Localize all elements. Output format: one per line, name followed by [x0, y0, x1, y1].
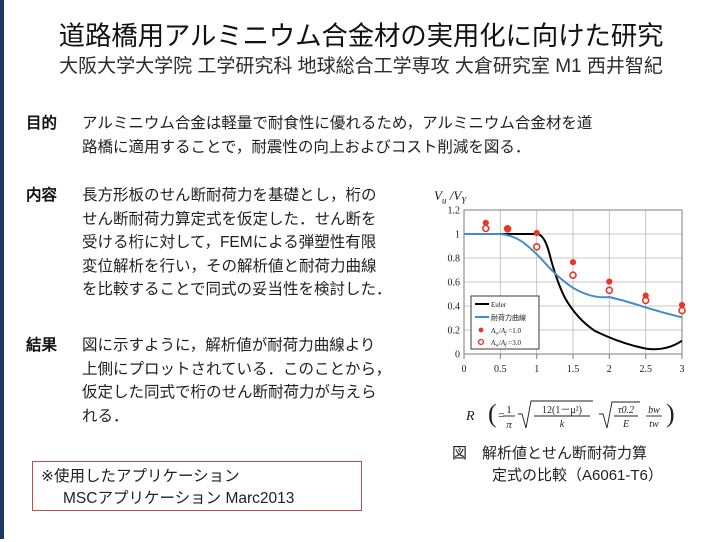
chart-legend-label-aw-af-1: Aw/Af =1.0: [490, 327, 521, 336]
formula-paren-open: (: [488, 399, 497, 428]
section-purpose-text: アルミニウム合金は軽量で耐食性に優れるため，アルミニウム合金材を道 路橋に適用す…: [82, 112, 692, 159]
svg-text:1.5: 1.5: [567, 364, 580, 375]
svg-text:1.2: 1.2: [448, 206, 461, 217]
section-content-text: 長方形板のせん断耐荷力を基礎とし，桁の せん断耐荷力算定式を仮定した．せん断を …: [82, 184, 434, 302]
figure-chart: Vu /VY: [432, 188, 714, 393]
formula-radical1-denominator: k: [560, 419, 565, 430]
formula-coeff-denominator: π: [506, 419, 512, 431]
chart-legend-label-euler: Euler: [491, 301, 507, 309]
svg-text:0.4: 0.4: [448, 302, 461, 313]
application-note-line1: ※使用したアプリケーション: [41, 466, 361, 488]
section-purpose: 目的 アルミニウム合金は軽量で耐食性に優れるため，アルミニウム合金材を道 路橋に…: [26, 112, 706, 159]
figure-caption-line1: 解析値とせん断耐荷力算: [482, 445, 647, 462]
svg-text:0.6: 0.6: [448, 278, 461, 289]
chart-legend-swatch-aw-af-3: [479, 340, 484, 345]
svg-text:2.5: 2.5: [639, 364, 652, 375]
chart-legend-label-capacity: 耐荷力曲線: [491, 313, 526, 322]
page-title: 道路橋用アルミニウム合金材の実用化に向けた研究: [0, 22, 722, 52]
figure-caption-line2: 定式の比較（A6061-T6）: [452, 465, 714, 487]
figure-formula: R ( = 1 π 12(1－μ²) k τ0.2 E bw tw ): [462, 396, 712, 436]
chart-y-axis-label: Vu /VY: [434, 188, 466, 206]
svg-text:0.2: 0.2: [448, 326, 461, 337]
formula-coeff-numerator: 1: [506, 404, 512, 416]
chart-legend: Euler 耐荷力曲線 Aw/Af =1.0 Aw/Af =3.0: [471, 296, 539, 349]
slide-canvas: 道路橋用アルミニウム合金材の実用化に向けた研究 大阪大学大学院 工学研究科 地球…: [0, 0, 722, 542]
chart-legend-label-aw-af-3: Aw/Af =3.0: [490, 339, 521, 348]
formula-variable: R: [465, 409, 475, 424]
formula-radical2-numerator: τ0.2: [618, 405, 634, 416]
formula-svg: R ( = 1 π 12(1－μ²) k τ0.2 E bw tw ): [462, 396, 712, 436]
svg-text:0.5: 0.5: [494, 364, 507, 375]
slide-header: 道路橋用アルミニウム合金材の実用化に向けた研究 大阪大学大学院 工学研究科 地球…: [0, 22, 722, 78]
chart-legend-swatch-aw-af-1: [479, 328, 484, 333]
chart-x-ticks: [464, 354, 682, 359]
author-affiliation: 大阪大学大学院 工学研究科 地球総合工学専攻 大倉研究室 M1 西井智紀: [0, 56, 722, 78]
figure-caption: 図解析値とせん断耐荷力算 定式の比較（A6061-T6）: [452, 443, 714, 487]
section-purpose-label: 目的: [26, 112, 82, 136]
chart-y-tick-labels: 1.2 1 0.8 0.6 0.4 0.2 0: [448, 206, 461, 361]
section-content-label: 内容: [26, 184, 82, 208]
formula-paren-close: ): [666, 399, 675, 428]
svg-text:0.8: 0.8: [448, 254, 461, 265]
svg-text:1: 1: [534, 364, 539, 375]
figure-caption-label: 図: [452, 443, 482, 465]
formula-radical1-numerator: 12(1－μ²): [542, 405, 582, 416]
svg-text:0: 0: [462, 364, 467, 375]
svg-text:2: 2: [607, 364, 612, 375]
svg-text:3: 3: [680, 364, 685, 375]
svg-text:1: 1: [455, 230, 460, 241]
application-note-line2: MSCアプリケーション Marc2013: [41, 488, 361, 510]
section-content: 内容 長方形板のせん断耐荷力を基礎とし，桁の せん断耐荷力算定式を仮定した．せん…: [26, 184, 446, 302]
chart-svg: 1.2 1 0.8 0.6 0.4 0.2 0 0 0.5: [432, 204, 714, 393]
svg-text:0: 0: [455, 350, 460, 361]
application-note-box: ※使用したアプリケーション MSCアプリケーション Marc2013: [32, 461, 362, 511]
section-result-label: 結果: [26, 334, 82, 358]
chart-x-tick-labels: 0 0.5 1 1.5 2 2.5 3: [462, 364, 685, 375]
formula-ratio-numerator: bw: [648, 405, 660, 416]
formula-radical2-denominator: E: [622, 419, 629, 430]
slide-left-accent-bar: [0, 0, 4, 542]
formula-ratio-denominator: tw: [649, 419, 659, 430]
formula-equals: =: [498, 408, 505, 422]
section-result-text: 図に示すように，解析値が耐荷力曲線より 上側にプロットされている．このことから，…: [82, 334, 434, 428]
section-result: 結果 図に示すように，解析値が耐荷力曲線より 上側にプロットされている．このこと…: [26, 334, 446, 428]
